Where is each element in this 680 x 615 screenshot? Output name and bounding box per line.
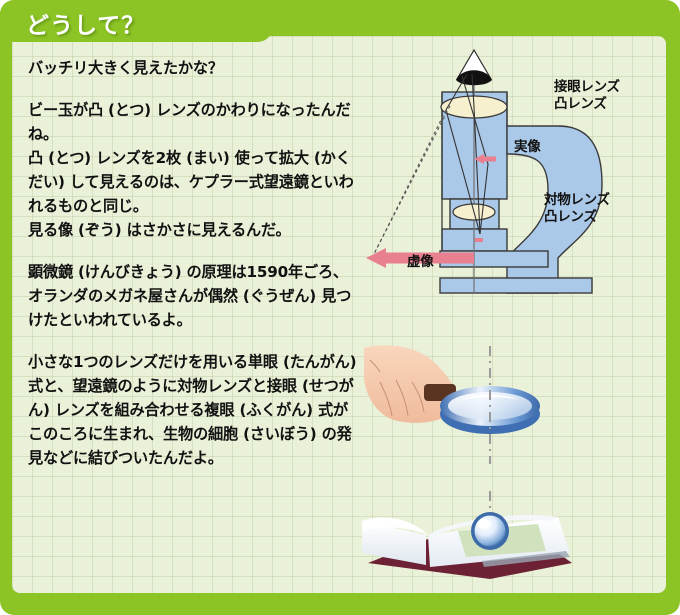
paragraph: バッチリ大きく見えたかな？: [28, 56, 358, 80]
hand-magnifier-illustration: [362, 336, 666, 466]
page-root: どうして？ バッチリ大きく見えたかな？ ビー玉が凸 (とつ) レンズのかわりにな…: [0, 0, 680, 615]
paragraph: ビー玉が凸 (とつ) レンズのかわりになったんだね。 凸 (とつ) レンズを2枚…: [28, 98, 358, 242]
paragraph: 顕微鏡 (けんびきょう) の原理は1590年ごろ、オランダのメガネ屋さんが偶然 …: [28, 260, 358, 332]
label-virtual-image: 虚像: [407, 254, 433, 271]
content-panel: バッチリ大きく見えたかな？ ビー玉が凸 (とつ) レンズのかわりになったんだね。…: [12, 36, 666, 593]
explanation-text: バッチリ大きく見えたかな？ ビー玉が凸 (とつ) レンズのかわりになったんだね。…: [28, 56, 358, 470]
label-objective-lens: 対物レンズ 凸レンズ: [544, 192, 610, 226]
paragraph: 小さな1つのレンズだけを用いる単眼 (たんがん) 式と、望遠鏡のように対物レンズ…: [28, 350, 358, 470]
virtual-ray: [372, 106, 450, 258]
header-tab: どうして？: [0, 0, 272, 42]
illustration-column: 接眼レンズ 凸レンズ 実像 対物レンズ 凸レンズ 虚像: [362, 36, 666, 593]
label-real-image: 実像: [514, 139, 540, 156]
label-eyepiece-lens: 接眼レンズ 凸レンズ: [554, 79, 620, 113]
marble: [475, 516, 506, 547]
book-illustration: [362, 491, 666, 593]
page-title: どうして？: [26, 6, 145, 40]
eye-icon: [456, 50, 492, 85]
